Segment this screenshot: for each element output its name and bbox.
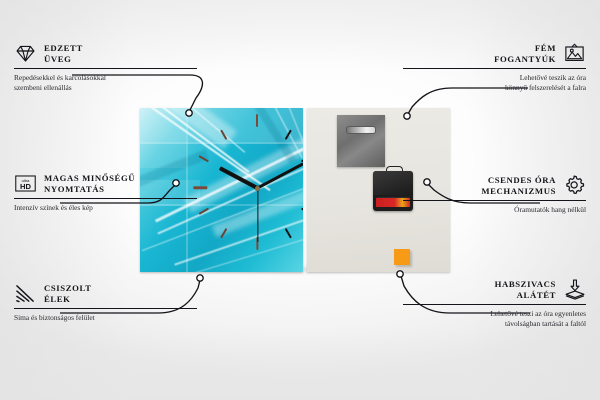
callout-title-line1: CSISZOLT xyxy=(44,283,91,294)
callout-title-line1: HABSZIVACS xyxy=(495,279,556,290)
callout-title-line1: CSENDES ÓRA xyxy=(481,175,556,186)
callout-sub-line1: Óramutatók hang nélkül xyxy=(403,205,586,215)
callout-sub-line1: Lehetővé teszik az óra xyxy=(403,73,586,83)
callout-foam-backing[interactable]: HABSZIVACS ALÁTÉT Lehetővé teszi az óra … xyxy=(403,278,586,328)
gear-icon xyxy=(563,174,586,197)
callout-high-quality-print[interactable]: ultra HD MAGAS MINŐSÉGŰ NYOMTATÁS Intenz… xyxy=(14,172,197,213)
callout-title-line2: ÜVEG xyxy=(44,54,83,65)
callout-sub-line2: távolságban tartását a faltól xyxy=(403,319,586,329)
callout-polished-edges[interactable]: CSISZOLT ÉLEK Sima és biztonságos felüle… xyxy=(14,282,197,323)
callout-sub-line1: Repedésekkel és karcolásokkal xyxy=(14,73,197,83)
callout-rule xyxy=(403,304,586,305)
callout-sub-line1: Intenzív színek és éles kép xyxy=(14,203,197,213)
callout-tempered-glass[interactable]: EDZETT ÜVEG Repedésekkel és karcolásokka… xyxy=(14,42,197,92)
callout-sub-line1: Lehetővé teszi az óra egyenletes xyxy=(403,309,586,319)
callout-rule xyxy=(14,308,197,309)
svg-text:HD: HD xyxy=(20,182,31,191)
callout-sub-line2: szembeni ellenállás xyxy=(14,83,197,93)
ultra-hd-icon: ultra HD xyxy=(14,172,37,195)
metal-hanger-plate xyxy=(337,115,385,167)
diagonal-lines-icon xyxy=(14,282,37,305)
callout-rule xyxy=(403,68,586,69)
callout-sub-line1: Sima és biztonságos felület xyxy=(14,313,197,323)
callout-title-line1: MAGAS MINŐSÉGŰ xyxy=(44,173,135,184)
clock-center-pivot xyxy=(255,186,260,191)
hanger-slot xyxy=(346,126,376,134)
callout-title-line1: EDZETT xyxy=(44,43,83,54)
picture-frame-hanger-icon xyxy=(563,42,586,65)
callout-title-line2: FOGANTYÚK xyxy=(494,54,556,65)
clock-second-hand xyxy=(257,188,258,242)
foam-spacer-pad xyxy=(394,249,410,265)
callout-title-line2: ALÁTÉT xyxy=(495,290,556,301)
callout-silent-mechanism[interactable]: CSENDES ÓRA MECHANIZMUS Óramutatók hang … xyxy=(403,174,586,215)
callout-rule xyxy=(14,68,197,69)
callout-rule xyxy=(14,198,197,199)
callout-title-line2: ÉLEK xyxy=(44,294,91,305)
callout-title-line2: MECHANIZMUS xyxy=(481,186,556,197)
callout-rule xyxy=(403,200,586,201)
diamond-icon xyxy=(14,42,37,65)
callout-title-line1: FÉM xyxy=(494,43,556,54)
callout-sub-line2: könnyű felszerelését a falra xyxy=(403,83,586,93)
infographic-canvas: EDZETT ÜVEG Repedésekkel és karcolásokka… xyxy=(0,0,600,400)
callout-title-line2: NYOMTATÁS xyxy=(44,184,135,195)
foam-pad-press-icon xyxy=(563,278,586,301)
callout-metal-handles[interactable]: FÉM FOGANTYÚK Lehetővé teszik az óra kön… xyxy=(403,42,586,92)
